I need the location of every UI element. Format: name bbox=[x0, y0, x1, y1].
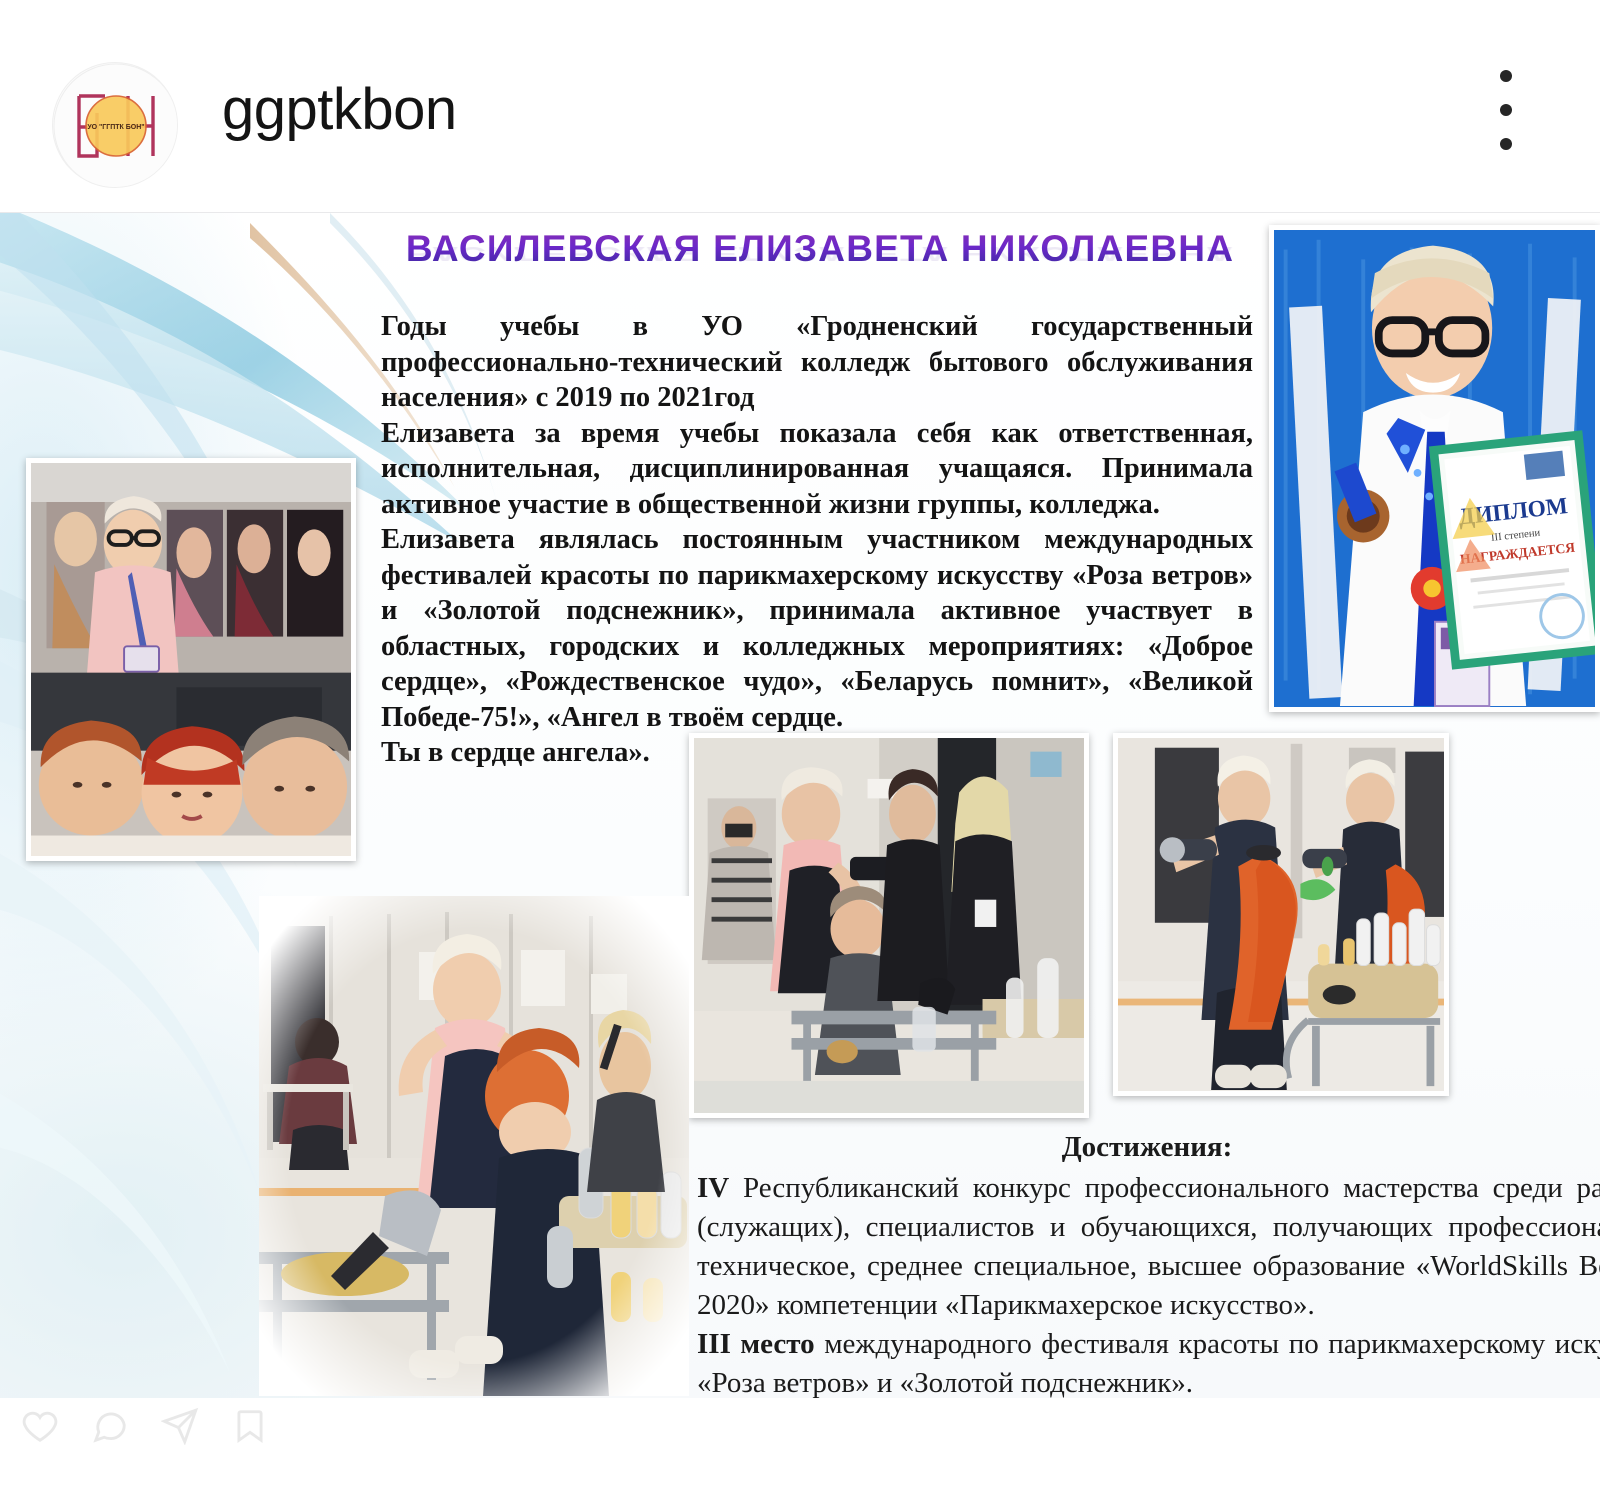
body-paragraph-4: Ты в сердце ангела». bbox=[381, 735, 1253, 771]
account-name[interactable]: ggptkbon bbox=[222, 76, 457, 143]
photo-blowdry-image bbox=[1118, 738, 1444, 1091]
photo-blowdry bbox=[1113, 733, 1449, 1096]
photo-compete-image bbox=[694, 738, 1084, 1113]
photo-styling bbox=[259, 896, 689, 1396]
achievement-item-1-text: Республиканский конкурс профессиональног… bbox=[697, 1172, 1600, 1321]
photo-diploma-image: ДИПЛОМ III степени НАГРАЖДАЕТСЯ bbox=[1274, 230, 1595, 707]
comment-button[interactable] bbox=[88, 1404, 132, 1448]
photo-compete bbox=[689, 733, 1089, 1118]
ggptkbon-logo-avatar-icon: УО "ГГПТК БОН" bbox=[53, 63, 178, 188]
more-options-button[interactable] bbox=[1486, 70, 1526, 150]
achievement-item-2-lead: III место bbox=[697, 1328, 815, 1360]
body-paragraph-2: Елизавета за время учебы показала себя к… bbox=[381, 416, 1253, 523]
achievement-item-1: IV Республиканский конкурс профессиональ… bbox=[697, 1169, 1600, 1325]
body-paragraph-3: Елизавета являлась постоянным участником… bbox=[381, 522, 1253, 735]
avatar[interactable]: УО "ГГПТК БОН" bbox=[52, 62, 178, 188]
save-button[interactable] bbox=[228, 1404, 272, 1448]
bookmark-icon bbox=[231, 1407, 269, 1445]
photo-styling-image bbox=[259, 896, 689, 1396]
svg-text:УО "ГГПТК БОН": УО "ГГПТК БОН" bbox=[87, 124, 144, 131]
achievements-heading: Достижения: bbox=[697, 1128, 1597, 1167]
more-vertical-icon-dot bbox=[1500, 104, 1512, 116]
achievement-item-2-text: международного фестиваля красоты по пари… bbox=[697, 1328, 1600, 1398]
instagram-post-header: УО "ГГПТК БОН" ggptkbon bbox=[0, 0, 1600, 213]
more-vertical-icon-dot bbox=[1500, 70, 1512, 82]
photo-expo-image bbox=[31, 463, 351, 856]
body-paragraph-1: Годы учебы в УО «Гродненский государстве… bbox=[381, 309, 1253, 416]
photo-expo bbox=[26, 458, 356, 861]
page-title: ВАСИЛЕВСКАЯ ЕЛИЗАВЕТА НИКОЛАЕВНА bbox=[380, 228, 1260, 270]
heart-icon bbox=[21, 1407, 59, 1445]
achievements-block: Достижения: IV Республиканский конкурс п… bbox=[697, 1128, 1600, 1398]
share-button[interactable] bbox=[158, 1404, 202, 1448]
like-button[interactable] bbox=[18, 1404, 62, 1448]
send-icon bbox=[161, 1407, 199, 1445]
post-slide-image[interactable]: ВАСИЛЕВСКАЯ ЕЛИЗАВЕТА НИКОЛАЕВНА ВАСИЛЕВ… bbox=[0, 213, 1600, 1398]
comment-icon bbox=[91, 1407, 129, 1445]
slide-body-text: Годы учебы в УО «Гродненский государстве… bbox=[381, 309, 1253, 771]
post-action-bar bbox=[0, 1398, 1600, 1494]
achievement-item-2: III место международного фестиваля красо… bbox=[697, 1325, 1600, 1398]
photo-diploma: ДИПЛОМ III степени НАГРАЖДАЕТСЯ bbox=[1269, 225, 1600, 712]
achievement-item-1-lead: IV bbox=[697, 1172, 729, 1204]
more-vertical-icon-dot bbox=[1500, 138, 1512, 150]
